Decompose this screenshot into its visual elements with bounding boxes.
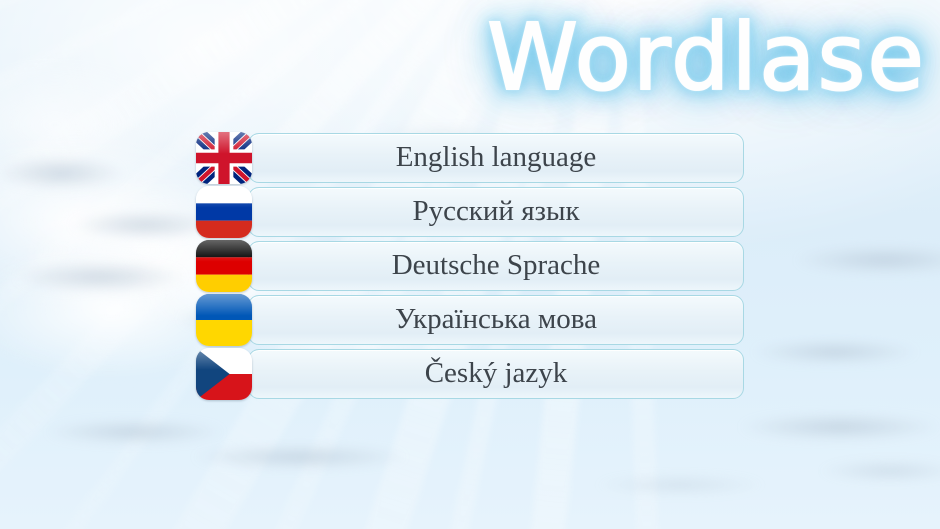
cloud-wisp bbox=[0, 255, 220, 299]
app-screen: Wordlase English language bbox=[0, 0, 940, 529]
app-title-area: Wordlase bbox=[0, 6, 926, 110]
app-title: Wordlase bbox=[487, 12, 926, 104]
language-option-hit-area[interactable] bbox=[196, 187, 744, 237]
language-option-german[interactable]: Deutsche Sprache bbox=[196, 241, 744, 291]
cloud-wisp bbox=[150, 440, 450, 474]
language-option-hit-area[interactable] bbox=[196, 295, 744, 345]
language-option-russian[interactable]: Русский язык bbox=[196, 187, 744, 237]
language-option-ukrainian[interactable]: Українська мова bbox=[196, 295, 744, 345]
cloud-wisp bbox=[10, 415, 260, 449]
language-option-hit-area[interactable] bbox=[196, 241, 744, 291]
cloud-wisp bbox=[560, 470, 800, 500]
cloud-wisp bbox=[700, 408, 940, 446]
cloud-wisp bbox=[720, 335, 940, 369]
language-option-hit-area[interactable] bbox=[196, 349, 744, 399]
cloud-wisp bbox=[760, 240, 940, 280]
cloud bbox=[0, 60, 180, 190]
language-option-hit-area[interactable] bbox=[196, 133, 744, 183]
language-option-czech[interactable]: Český jazyk bbox=[196, 349, 744, 399]
cloud-wisp bbox=[790, 455, 940, 487]
language-option-english[interactable]: English language bbox=[196, 133, 744, 183]
cloud-wisp bbox=[0, 150, 150, 196]
language-selection-menu: English language Русский язык bbox=[196, 133, 744, 403]
